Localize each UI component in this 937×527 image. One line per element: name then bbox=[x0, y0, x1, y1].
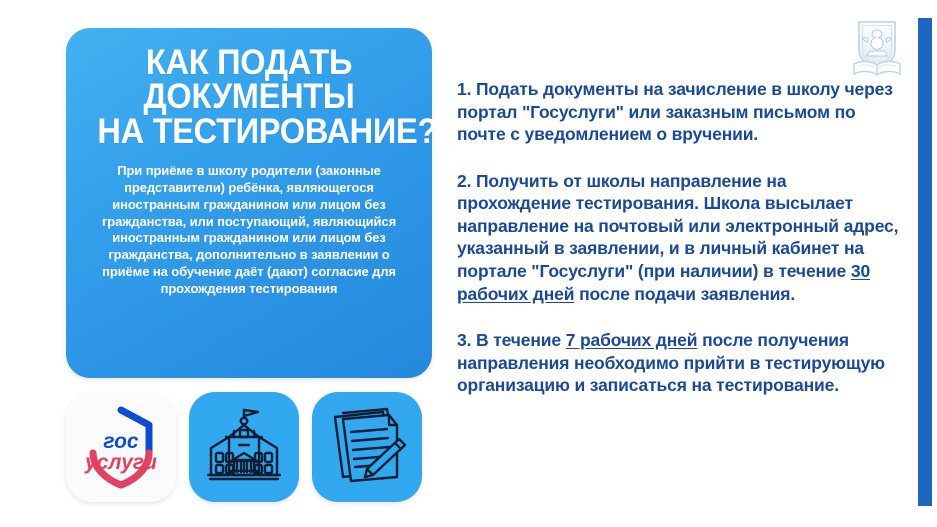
steps-list: 1. Подать документы на зачисление в школ… bbox=[457, 78, 905, 397]
document-with-pen-tile[interactable] bbox=[312, 392, 422, 502]
right-accent-bar bbox=[918, 18, 932, 506]
step-item-1: 1. Подать документы на зачисление в школ… bbox=[457, 78, 905, 146]
school-building-tile[interactable] bbox=[189, 392, 299, 502]
step-2-text-part-1: 2. Получить от школы направление на прох… bbox=[457, 171, 898, 281]
svg-text:гос: гос bbox=[103, 430, 139, 453]
step-1-text-part-1: 1. Подать документы на зачисление в школ… bbox=[457, 79, 893, 144]
card-heading-line-2: ДОКУМЕНТЫ bbox=[97, 80, 400, 114]
step-2-text-part-2: после подачи заявления. bbox=[574, 284, 795, 304]
card-heading-line-3: НА ТЕСТИРОВАНИЕ? bbox=[97, 115, 400, 149]
svg-text:услуги: услуги bbox=[84, 451, 157, 474]
infographic-slide: КАК ПОДАТЬ ДОКУМЕНТЫ НА ТЕСТИРОВАНИЕ? Пр… bbox=[0, 0, 937, 527]
step-item-3: 3. В течение 7 рабочих дней после получе… bbox=[457, 329, 905, 397]
card-heading: КАК ПОДАТЬ ДОКУМЕНТЫ НА ТЕСТИРОВАНИЕ? bbox=[97, 42, 400, 149]
step-3-underlined-term: 7 рабочих дней bbox=[566, 330, 698, 350]
card-body-text: При приёме в школу родители (законные пр… bbox=[86, 149, 412, 298]
school-coat-of-arms-emblem bbox=[846, 18, 908, 82]
info-card: КАК ПОДАТЬ ДОКУМЕНТЫ НА ТЕСТИРОВАНИЕ? Пр… bbox=[66, 28, 432, 378]
card-heading-line-1: КАК ПОДАТЬ bbox=[97, 46, 400, 80]
step-3-text-part-1: 3. В течение bbox=[457, 330, 566, 350]
step-item-2: 2. Получить от школы направление на прох… bbox=[457, 170, 905, 305]
gosuslugi-logo-tile[interactable]: гос услуги bbox=[66, 392, 176, 502]
icon-row: гос услуги bbox=[66, 392, 432, 502]
